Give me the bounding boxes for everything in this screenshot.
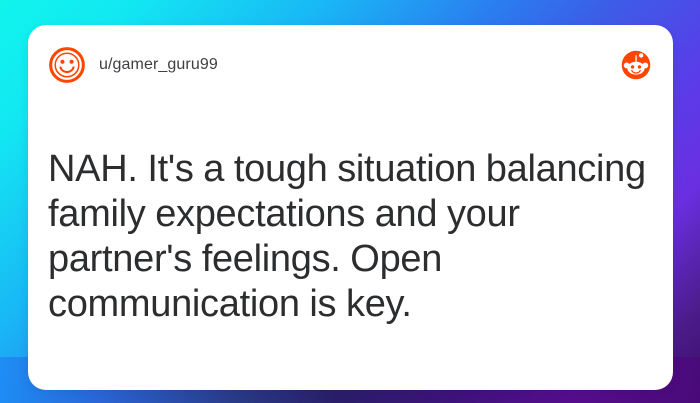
smiley-face-avatar-icon (48, 46, 86, 84)
author-block[interactable]: u/gamer_guru99 (48, 46, 218, 84)
card-header: u/gamer_guru99 (28, 25, 673, 105)
reddit-comment-card: u/gamer_guru99 (28, 25, 673, 390)
username-label: u/gamer_guru99 (99, 56, 218, 74)
post-image-canvas: u/gamer_guru99 (0, 0, 700, 403)
comment-body-text: NAH. It's a tough situation balancing fa… (28, 147, 673, 327)
reddit-snoo-logo-icon[interactable] (621, 50, 651, 80)
